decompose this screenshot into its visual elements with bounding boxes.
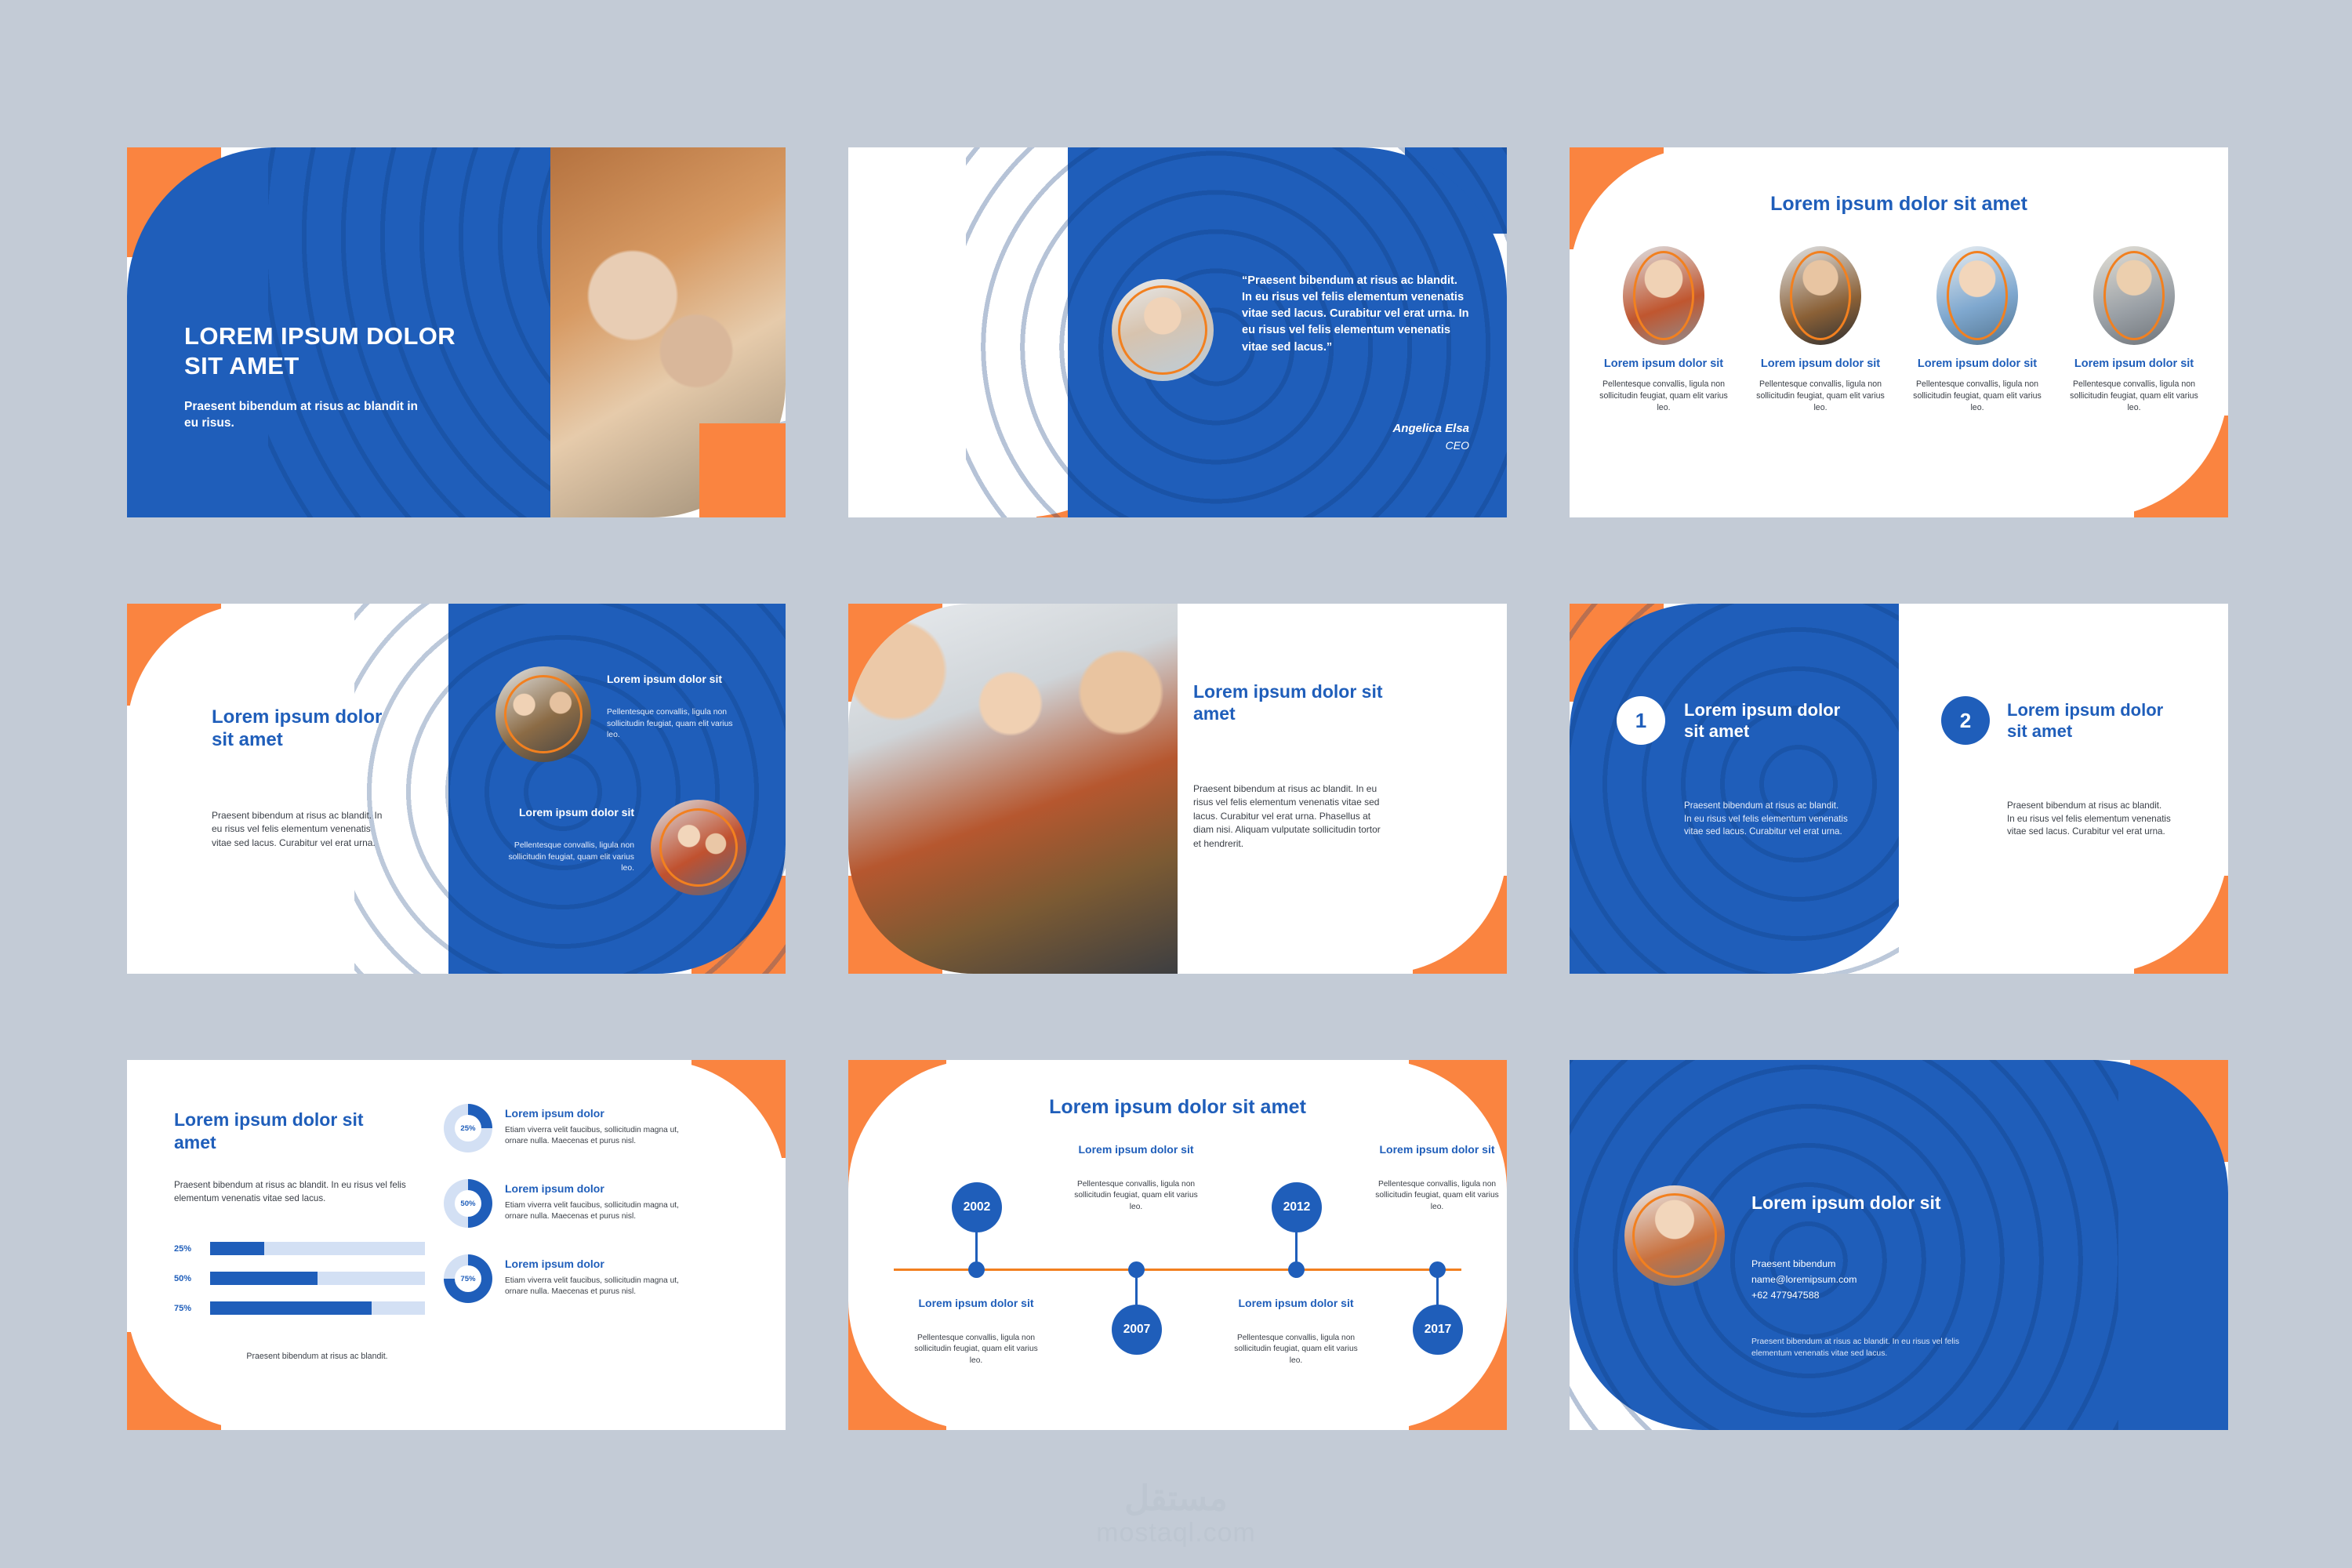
slide-timeline[interactable]: Lorem ipsum dolor sit amet 2002 Lorem ip…	[848, 1060, 1507, 1430]
bar-row: 25%	[174, 1242, 425, 1255]
timeline-event-desc: Pellentesque convallis, ligula non solli…	[1069, 1179, 1203, 1213]
avatar-ring-icon	[1790, 251, 1851, 340]
page-title: Lorem ipsum dolor sit amet	[174, 1109, 386, 1153]
slide-photo	[848, 604, 1193, 974]
member-name: Lorem ipsum dolor sit	[1907, 358, 2048, 372]
step-title-2: Lorem ipsum dolor sit amet	[2007, 699, 2172, 742]
page-subtitle: Praesent bibendum at risus ac blandit in…	[184, 398, 419, 432]
bar-fill	[210, 1242, 264, 1255]
donut-item-desc: Etiam viverra velit faucibus, sollicitud…	[505, 1276, 685, 1298]
timeline-stem	[1135, 1270, 1138, 1308]
bar-label: 75%	[174, 1304, 210, 1313]
step-title-1: Lorem ipsum dolor sit amet	[1684, 699, 1849, 742]
step-desc-1: Praesent bibendum at risus ac blandit. I…	[1684, 800, 1849, 839]
circle-ring-icon	[504, 675, 583, 753]
donut-value-label: 50%	[455, 1190, 481, 1217]
donut-item-title: Lorem ipsum dolor	[505, 1182, 685, 1195]
bar-row: 50%	[174, 1272, 425, 1285]
white-panel	[127, 604, 472, 974]
slide-title[interactable]: LOREM IPSUM DOLOR SIT AMET Praesent bibe…	[127, 147, 786, 517]
member-description: Pellentesque convallis, ligula non solli…	[1593, 379, 1734, 414]
bar-label: 25%	[174, 1244, 210, 1254]
member-name: Lorem ipsum dolor sit	[2063, 358, 2205, 372]
slide-team[interactable]: Lorem ipsum dolor sit amet Lorem ipsum d…	[1570, 147, 2228, 517]
bar-track	[210, 1301, 425, 1315]
page-body: Praesent bibendum at risus ac blandit. I…	[1193, 782, 1389, 851]
slide-photo-text[interactable]: Lorem ipsum dolor sit amet Praesent bibe…	[848, 604, 1507, 974]
timeline-event-title: Lorem ipsum dolor sit	[1374, 1143, 1500, 1156]
timeline-stem	[1436, 1270, 1439, 1308]
timeline-year: 2012	[1272, 1182, 1322, 1232]
blue-panel	[448, 604, 786, 974]
avatar	[1936, 246, 2018, 345]
watermark-arabic: مستقل	[1096, 1482, 1256, 1516]
watermark-latin: mostaql.com	[1096, 1519, 1256, 1546]
timeline-event-desc: Pellentesque convallis, ligula non solli…	[909, 1333, 1043, 1367]
avatar-ring-icon	[1118, 285, 1207, 375]
bar-chart: 25% 50% 75%	[174, 1242, 425, 1331]
donut-value-label: 75%	[455, 1265, 481, 1292]
team-member[interactable]: Lorem ipsum dolor sit Pellentesque conva…	[1750, 246, 1891, 414]
page-title: LOREM IPSUM DOLOR SIT AMET	[184, 321, 474, 381]
donut-item: 25% Lorem ipsum dolor Etiam viverra veli…	[444, 1104, 757, 1152]
slide-quote[interactable]: “Praesent bibendum at risus ac blandit. …	[848, 147, 1507, 517]
member-name: Lorem ipsum dolor sit	[1593, 358, 1734, 372]
step-number-badge-1: 1	[1617, 696, 1665, 745]
member-description: Pellentesque convallis, ligula non solli…	[2063, 379, 2205, 414]
donut-value-label: 25%	[455, 1115, 481, 1142]
team-member[interactable]: Lorem ipsum dolor sit Pellentesque conva…	[1593, 246, 1734, 414]
timeline-year: 2002	[952, 1182, 1002, 1232]
bar-row: 75%	[174, 1301, 425, 1315]
quote-text: “Praesent bibendum at risus ac blandit. …	[1242, 273, 1469, 356]
step-number-badge-2: 2	[1941, 696, 1990, 745]
circle-ring-icon	[659, 808, 738, 887]
donut-item: 75% Lorem ipsum dolor Etiam viverra veli…	[444, 1254, 757, 1303]
donut-item-title: Lorem ipsum dolor	[505, 1258, 685, 1270]
avatar	[2093, 246, 2175, 345]
page-title: Lorem ipsum dolor sit amet	[1570, 193, 2228, 216]
bar-fill	[210, 1301, 372, 1315]
quote-author-name: Angelica Elsa	[1392, 422, 1469, 435]
bar-label: 50%	[174, 1274, 210, 1283]
avatar-ring-icon	[2103, 251, 2165, 340]
bar-track	[210, 1242, 425, 1255]
circle-item-title-1: Lorem ipsum dolor sit	[607, 673, 744, 687]
contact-line-1: Praesent bibendum	[1751, 1256, 1987, 1272]
donut-item: 50% Lorem ipsum dolor Etiam viverra veli…	[444, 1179, 757, 1228]
avatar	[1112, 279, 1214, 381]
member-description: Pellentesque convallis, ligula non solli…	[1750, 379, 1891, 414]
circle-image-1	[495, 666, 591, 762]
timeline-year: 2007	[1112, 1305, 1162, 1355]
team-member-list: Lorem ipsum dolor sit Pellentesque conva…	[1593, 246, 2205, 414]
contact-details: Praesent bibendum name@loremipsum.com +6…	[1751, 1256, 1987, 1303]
contact-phone[interactable]: +62 477947588	[1751, 1287, 1987, 1303]
donut-item-title: Lorem ipsum dolor	[505, 1107, 685, 1120]
page-body: Praesent bibendum at risus ac blandit. I…	[212, 809, 384, 850]
member-name: Lorem ipsum dolor sit	[1750, 358, 1891, 372]
blue-panel	[1570, 604, 1915, 974]
donut-chart: 50%	[444, 1179, 492, 1228]
circle-item-desc-1: Pellentesque convallis, ligula non solli…	[607, 707, 744, 742]
timeline-event-title: Lorem ipsum dolor sit	[1233, 1297, 1359, 1310]
slide-deck: LOREM IPSUM DOLOR SIT AMET Praesent bibe…	[127, 147, 2228, 1417]
page-title: Lorem ipsum dolor sit amet	[212, 706, 392, 752]
donut-item-desc: Etiam viverra velit faucibus, sollicitud…	[505, 1125, 685, 1148]
avatar	[1780, 246, 1861, 345]
page-body: Praesent bibendum at risus ac blandit. I…	[174, 1179, 409, 1205]
avatar-ring-icon	[1947, 251, 2008, 340]
slide-stats[interactable]: Lorem ipsum dolor sit amet Praesent bibe…	[127, 1060, 786, 1430]
timeline-event-title: Lorem ipsum dolor sit	[1073, 1143, 1199, 1156]
donut-item-desc: Etiam viverra velit faucibus, sollicitud…	[505, 1200, 685, 1223]
circle-image-2	[651, 800, 746, 895]
avatar-ring-icon	[1633, 251, 1694, 340]
chart-caption: Praesent bibendum at risus ac blandit.	[205, 1352, 429, 1361]
timeline-stem	[975, 1231, 978, 1269]
avatar	[1623, 246, 1704, 345]
slide-numbered[interactable]: 1 Lorem ipsum dolor sit amet Praesent bi…	[1570, 604, 2228, 974]
slide-contact[interactable]: Lorem ipsum dolor sit Praesent bibendum …	[1570, 1060, 2228, 1430]
team-member[interactable]: Lorem ipsum dolor sit Pellentesque conva…	[1907, 246, 2048, 414]
donut-chart: 75%	[444, 1254, 492, 1303]
timeline-event-desc: Pellentesque convallis, ligula non solli…	[1370, 1179, 1504, 1213]
contact-note: Praesent bibendum at risus ac blandit. I…	[1751, 1336, 1987, 1359]
page-title: Lorem ipsum dolor sit amet	[1193, 681, 1389, 724]
avatar	[1624, 1185, 1725, 1286]
timeline-stem	[1295, 1231, 1298, 1269]
slide-two-circles[interactable]: Lorem ipsum dolor sit amet Praesent bibe…	[127, 604, 786, 974]
member-description: Pellentesque convallis, ligula non solli…	[1907, 379, 2048, 414]
step-desc-2: Praesent bibendum at risus ac blandit. I…	[2007, 800, 2172, 839]
timeline-event-desc: Pellentesque convallis, ligula non solli…	[1229, 1333, 1363, 1367]
orange-bottom-accent	[699, 423, 786, 517]
donut-chart-list: 25% Lorem ipsum dolor Etiam viverra veli…	[444, 1104, 757, 1330]
team-member[interactable]: Lorem ipsum dolor sit Pellentesque conva…	[2063, 246, 2205, 414]
page-title: Lorem ipsum dolor sit amet	[848, 1096, 1507, 1119]
bar-track	[210, 1272, 425, 1285]
donut-chart: 25%	[444, 1104, 492, 1152]
watermark: مستقل mostaql.com	[1096, 1482, 1256, 1546]
handshake-photo-placeholder	[848, 604, 1193, 974]
bar-fill	[210, 1272, 318, 1285]
circle-item-desc-2: Pellentesque convallis, ligula non solli…	[497, 840, 634, 875]
contact-email[interactable]: name@loremipsum.com	[1751, 1272, 1987, 1287]
circle-item-title-2: Lorem ipsum dolor sit	[497, 806, 634, 820]
quote-author-role: CEO	[1446, 439, 1469, 452]
timeline-event-title: Lorem ipsum dolor sit	[913, 1297, 1039, 1310]
avatar-ring-icon	[1632, 1193, 1717, 1278]
white-panel	[1899, 604, 2228, 974]
page-title: Lorem ipsum dolor sit	[1751, 1192, 1955, 1214]
timeline-year: 2017	[1413, 1305, 1463, 1355]
